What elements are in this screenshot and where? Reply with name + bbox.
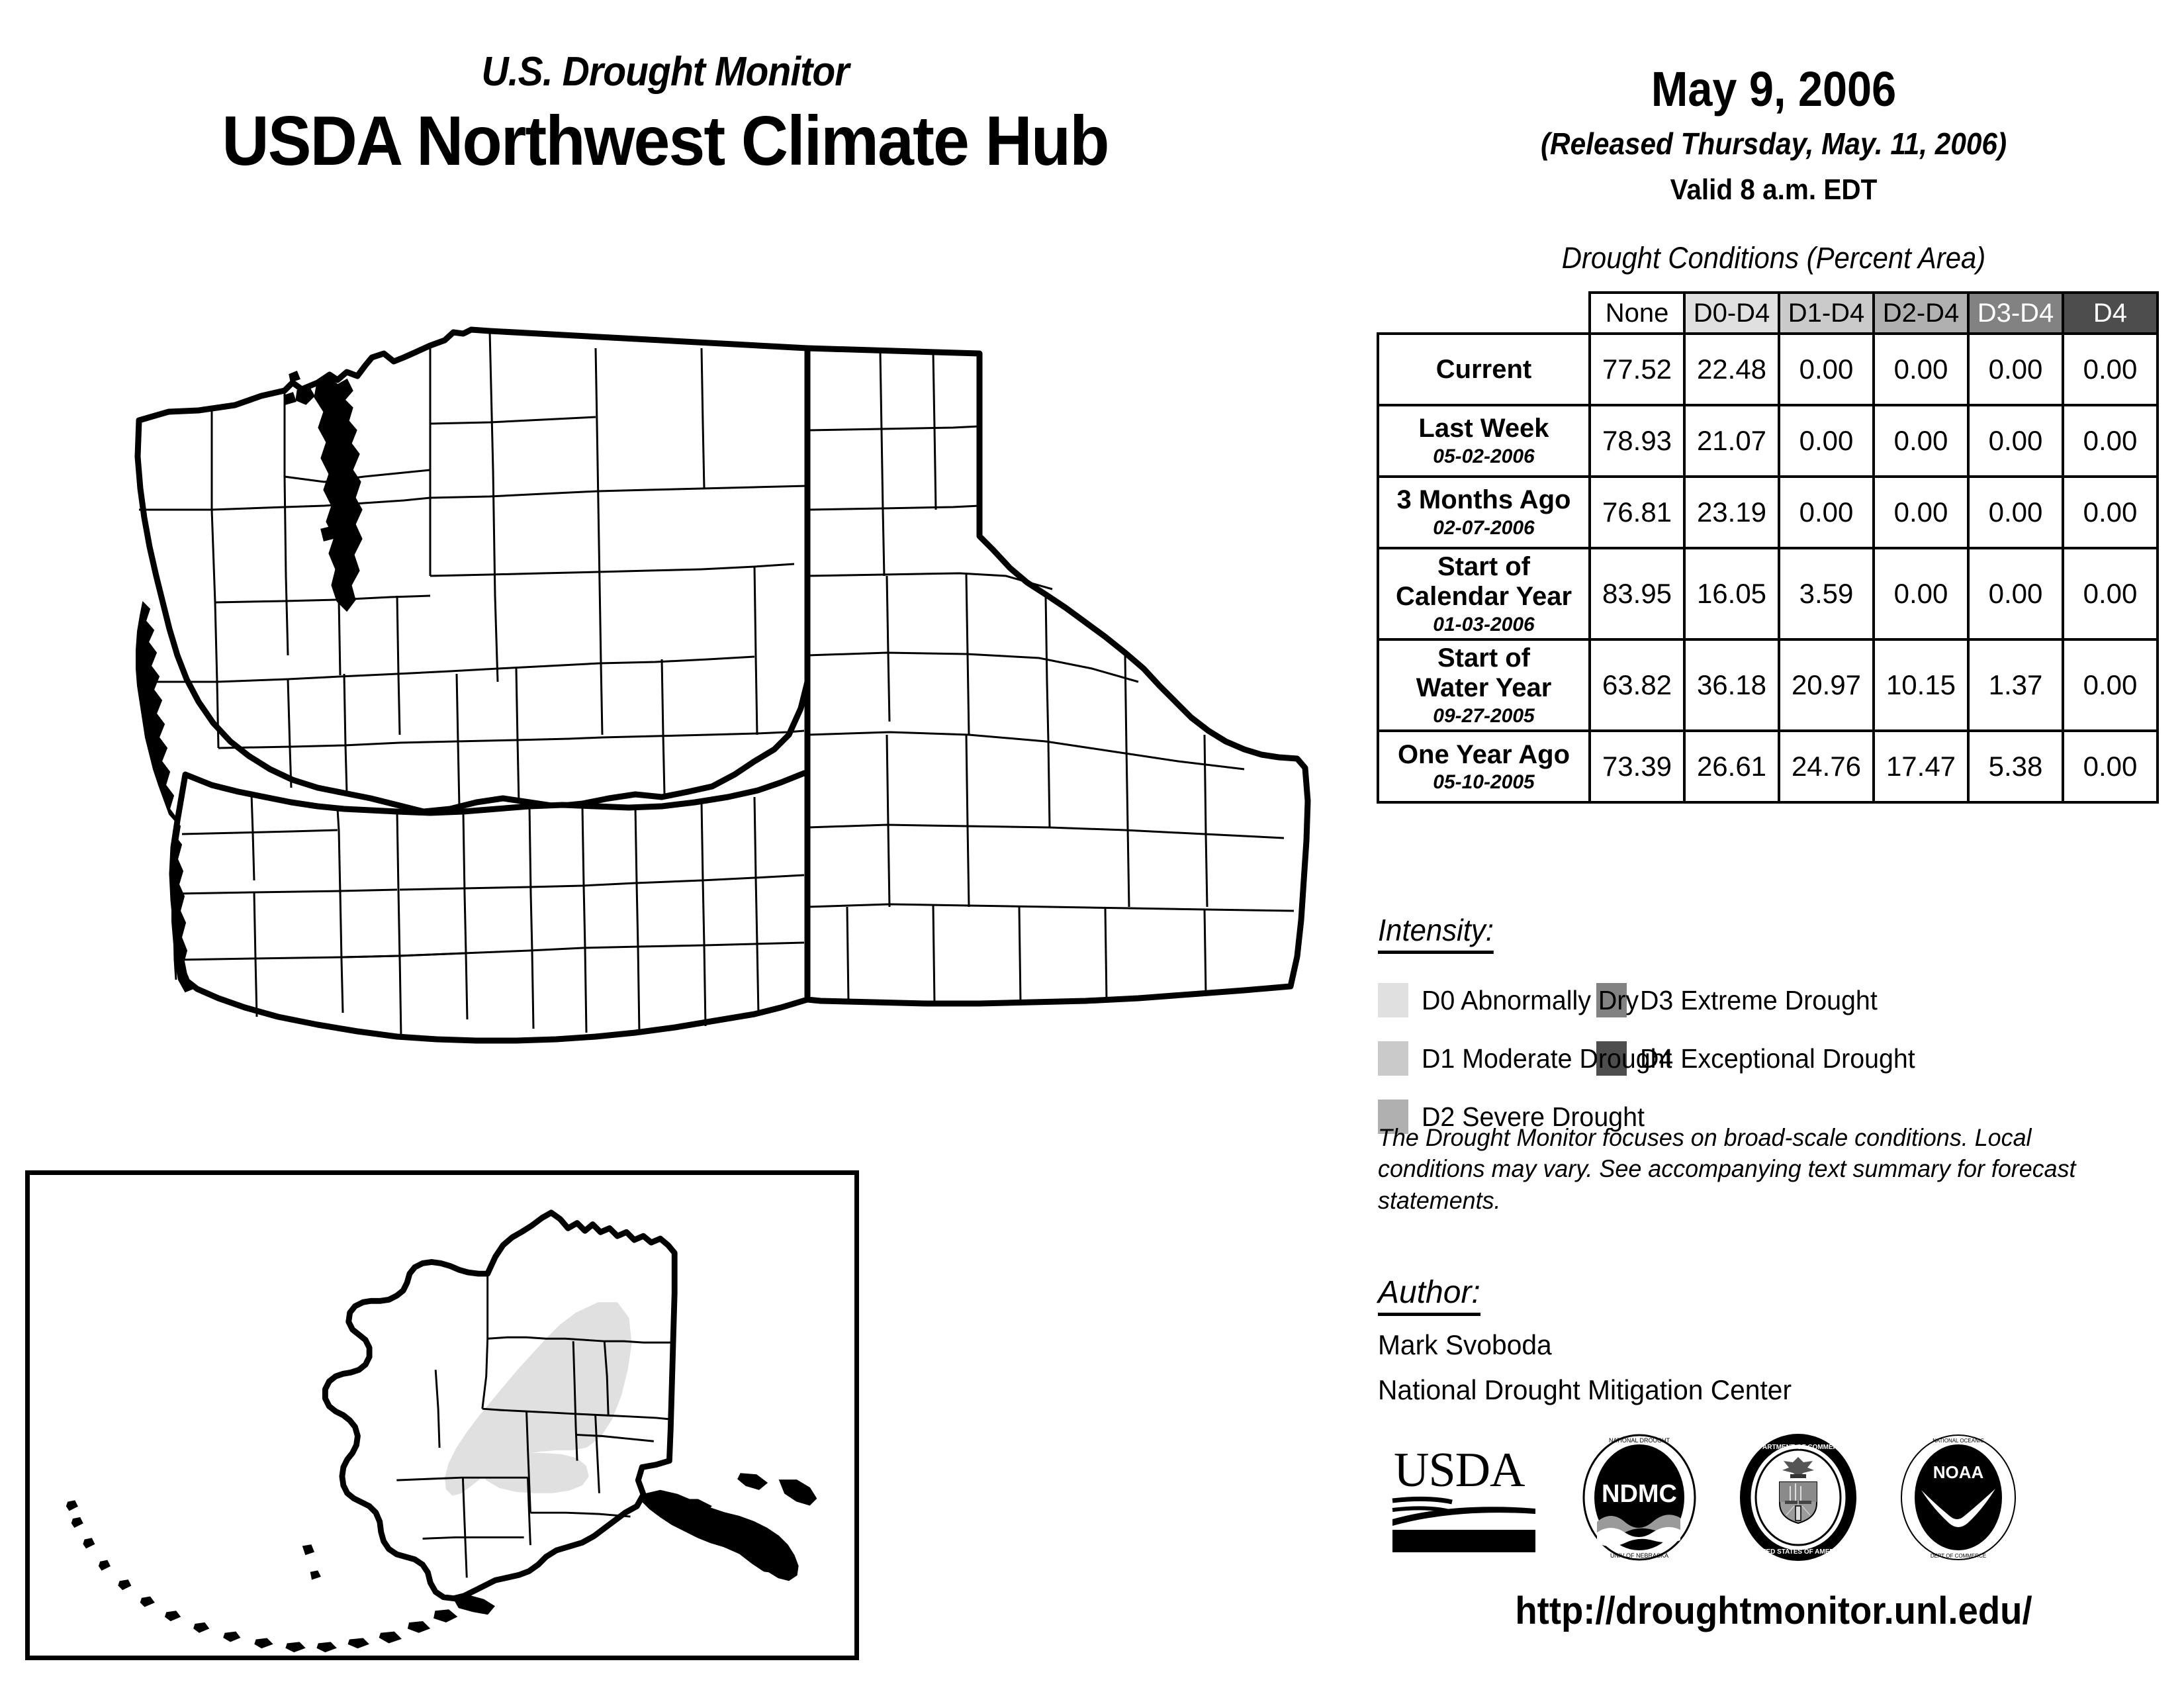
table-caption: Drought Conditions (Percent Area)	[1392, 241, 2155, 275]
row-label-date: 05-10-2005	[1383, 771, 1584, 794]
row-label-text: One Year Ago	[1398, 740, 1570, 769]
cell-calyear-none: 83.95	[1590, 548, 1684, 639]
row-label-last-week: Last Week 05-02-2006	[1378, 405, 1590, 477]
col-header-none: None	[1590, 293, 1684, 334]
state-washington	[138, 330, 807, 812]
col-header-d4: D4	[2063, 293, 2158, 334]
legend-grid: D0 Abnormally Dry D3 Extreme Drought D1 …	[1378, 976, 2172, 1141]
map-date: May 9, 2006	[1404, 64, 2143, 115]
intensity-legend: Intensity: D0 Abnormally Dry D3 Extreme …	[1378, 912, 2172, 1141]
svg-text:UNITED STATES OF AMERICA: UNITED STATES OF AMERICA	[1751, 1548, 1846, 1556]
col-header-d2-d4: D2-D4	[1874, 293, 1968, 334]
cell-current-d2d4: 0.00	[1874, 334, 1968, 405]
cell-oneyear-d4: 0.00	[2063, 731, 2158, 802]
alaska-d0-shading	[445, 1302, 632, 1495]
swatch-d0-icon	[1378, 983, 1408, 1017]
author-heading: Author:	[1378, 1274, 1480, 1316]
drought-monitor-page: U.S. Drought Monitor USDA Northwest Clim…	[0, 0, 2184, 1688]
row-label-date: 01-03-2006	[1383, 614, 1584, 636]
table-header-row: None D0-D4 D1-D4 D2-D4 D3-D4 D4	[1378, 293, 2158, 334]
cell-3months-d0d4: 23.19	[1684, 477, 1779, 548]
cell-wateryear-d2d4: 10.15	[1874, 639, 1968, 731]
cell-oneyear-d1d4: 24.76	[1779, 731, 1874, 802]
ndmc-logo: NDMC NATIONAL DROUGHT UNIV OF NEBRASKA	[1582, 1432, 1698, 1564]
cell-lastweek-d1d4: 0.00	[1779, 405, 1874, 477]
table-row: Last Week 05-02-2006 78.93 21.07 0.00 0.…	[1378, 405, 2158, 477]
row-label-text: 3 Months Ago	[1397, 485, 1571, 514]
noaa-logo: NOAA NATIONAL OCEANIC DEPT OF COMMERCE	[1899, 1432, 2018, 1564]
row-label-start-water-year: Start of Water Year 09-27-2005	[1378, 639, 1590, 731]
doc-seal-logo: DEPARTMENT OF COMMERCE UNITED STATES OF …	[1739, 1432, 1858, 1564]
table-row: Start of Water Year 09-27-2005 63.82 36.…	[1378, 639, 2158, 731]
drought-conditions-table: None D0-D4 D1-D4 D2-D4 D3-D4 D4 Current …	[1377, 291, 2159, 804]
row-label-date: 05-02-2006	[1383, 445, 1584, 468]
release-date: (Released Thursday, May. 11, 2006)	[1396, 126, 2152, 162]
cell-3months-d2d4: 0.00	[1874, 477, 1968, 548]
cell-current-d0d4: 22.48	[1684, 334, 1779, 405]
cell-current-d1d4: 0.00	[1779, 334, 1874, 405]
svg-text:NATIONAL DROUGHT: NATIONAL DROUGHT	[1609, 1437, 1670, 1444]
cell-lastweek-d3d4: 0.00	[1968, 405, 2063, 477]
cell-3months-none: 76.81	[1590, 477, 1684, 548]
row-label-start-calendar-year: Start of Calendar Year 01-03-2006	[1378, 548, 1590, 639]
usda-logo: USDA	[1388, 1432, 1541, 1564]
drought-conditions-table-wrap: None D0-D4 D1-D4 D2-D4 D3-D4 D4 Current …	[1377, 291, 2171, 804]
cell-calyear-d1d4: 3.59	[1779, 548, 1874, 639]
cell-wateryear-d3d4: 1.37	[1968, 639, 2063, 731]
cell-calyear-d4: 0.00	[2063, 548, 2158, 639]
page-title-block: U.S. Drought Monitor USDA Northwest Clim…	[0, 52, 1330, 178]
row-label-line2: Water Year	[1416, 673, 1552, 702]
svg-text:UNIV OF NEBRASKA: UNIV OF NEBRASKA	[1610, 1552, 1668, 1559]
svg-text:DEPARTMENT OF COMMERCE: DEPARTMENT OF COMMERCE	[1749, 1444, 1847, 1451]
legend-item-d0: D0 Abnormally Dry	[1378, 976, 1596, 1024]
alaska-drought-map[interactable]	[25, 1170, 859, 1660]
cell-oneyear-d3d4: 5.38	[1968, 731, 2063, 802]
product-title: U.S. Drought Monitor	[53, 52, 1277, 93]
cell-calyear-d3d4: 0.00	[1968, 548, 2063, 639]
cell-oneyear-d2d4: 17.47	[1874, 731, 1968, 802]
legend-label-d3: D3 Extreme Drought	[1640, 985, 1878, 1016]
cell-lastweek-d4: 0.00	[2063, 405, 2158, 477]
row-label-one-year-ago: One Year Ago 05-10-2005	[1378, 731, 1590, 802]
legend-label-d1: D1 Moderate Drought	[1422, 1043, 1672, 1074]
cell-current-none: 77.52	[1590, 334, 1684, 405]
swatch-d1-icon	[1378, 1041, 1408, 1076]
partner-logos: USDA NDMC NATIONAL DROUGHT UNIV OF NEBRA…	[1377, 1427, 2158, 1569]
cell-calyear-d0d4: 16.05	[1684, 548, 1779, 639]
row-label-line2: Calendar Year	[1396, 582, 1572, 611]
region-title: USDA Northwest Climate Hub	[46, 105, 1283, 178]
valid-time: Valid 8 a.m. EDT	[1396, 173, 2152, 207]
col-header-d3-d4: D3-D4	[1968, 293, 2063, 334]
cell-wateryear-d0d4: 36.18	[1684, 639, 1779, 731]
state-oregon	[172, 773, 807, 1041]
date-block: May 9, 2006 (Released Thursday, May. 11,…	[1363, 0, 2184, 207]
table-row: Start of Calendar Year 01-03-2006 83.95 …	[1378, 548, 2158, 639]
southeast-alaska-islands	[642, 1474, 816, 1580]
cell-lastweek-d0d4: 21.07	[1684, 405, 1779, 477]
row-label-date: 02-07-2006	[1383, 517, 1584, 539]
col-header-d0-d4: D0-D4	[1684, 293, 1779, 334]
table-row: Current 77.52 22.48 0.00 0.00 0.00 0.00	[1378, 334, 2158, 405]
cell-oneyear-d0d4: 26.61	[1684, 731, 1779, 802]
row-label-line1: Start of	[1437, 643, 1530, 673]
legend-item-d4: D4 Exceptional Drought	[1596, 1035, 1921, 1082]
cell-lastweek-d2d4: 0.00	[1874, 405, 1968, 477]
cell-lastweek-none: 78.93	[1590, 405, 1684, 477]
legend-label-d4: D4 Exceptional Drought	[1640, 1043, 1915, 1074]
svg-text:NOAA: NOAA	[1933, 1462, 1984, 1482]
table-corner-cell	[1378, 293, 1590, 334]
cell-current-d4: 0.00	[2063, 334, 2158, 405]
cell-calyear-d2d4: 0.00	[1874, 548, 1968, 639]
author-organization: National Drought Mitigation Center	[1378, 1374, 2084, 1406]
author-block: Author: Mark Svoboda National Drought Mi…	[1378, 1274, 2106, 1406]
cell-3months-d1d4: 0.00	[1779, 477, 1874, 548]
row-label-text: Last Week	[1418, 414, 1549, 443]
cell-3months-d3d4: 0.00	[1968, 477, 2063, 548]
cell-wateryear-d1d4: 20.97	[1779, 639, 1874, 731]
row-label-line1: Start of	[1437, 552, 1530, 581]
pacific-northwest-drought-map[interactable]	[119, 311, 1330, 1152]
legend-heading: Intensity:	[1378, 912, 1494, 954]
col-header-d1-d4: D1-D4	[1779, 293, 1874, 334]
table-row: 3 Months Ago 02-07-2006 76.81 23.19 0.00…	[1378, 477, 2158, 548]
svg-text:DEPT OF COMMERCE: DEPT OF COMMERCE	[1931, 1553, 1986, 1559]
right-panel: May 9, 2006 (Released Thursday, May. 11,…	[1363, 0, 2184, 1688]
author-name: Mark Svoboda	[1378, 1329, 2084, 1361]
row-label-3-months-ago: 3 Months Ago 02-07-2006	[1378, 477, 1590, 548]
cell-wateryear-d4: 0.00	[2063, 639, 2158, 731]
svg-text:NATIONAL OCEANIC: NATIONAL OCEANIC	[1933, 1438, 1984, 1444]
row-label-current: Current	[1378, 334, 1590, 405]
row-label-date: 09-27-2005	[1383, 705, 1584, 727]
legend-label-d0: D0 Abnormally Dry	[1422, 985, 1639, 1016]
cell-wateryear-none: 63.82	[1590, 639, 1684, 731]
svg-text:NDMC: NDMC	[1602, 1480, 1677, 1508]
website-url[interactable]: http://droughtmonitor.unl.edu/	[1388, 1589, 2160, 1633]
legend-item-d3: D3 Extreme Drought	[1596, 976, 1921, 1024]
svg-text:USDA: USDA	[1394, 1443, 1525, 1497]
cell-3months-d4: 0.00	[2063, 477, 2158, 548]
cell-oneyear-none: 73.39	[1590, 731, 1684, 802]
legend-item-d1: D1 Moderate Drought	[1378, 1035, 1596, 1082]
table-row: One Year Ago 05-10-2005 73.39 26.61 24.7…	[1378, 731, 2158, 802]
row-label-text: Current	[1436, 355, 1531, 384]
cell-current-d3d4: 0.00	[1968, 334, 2063, 405]
disclaimer-text: The Drought Monitor focuses on broad-sca…	[1378, 1122, 2103, 1216]
